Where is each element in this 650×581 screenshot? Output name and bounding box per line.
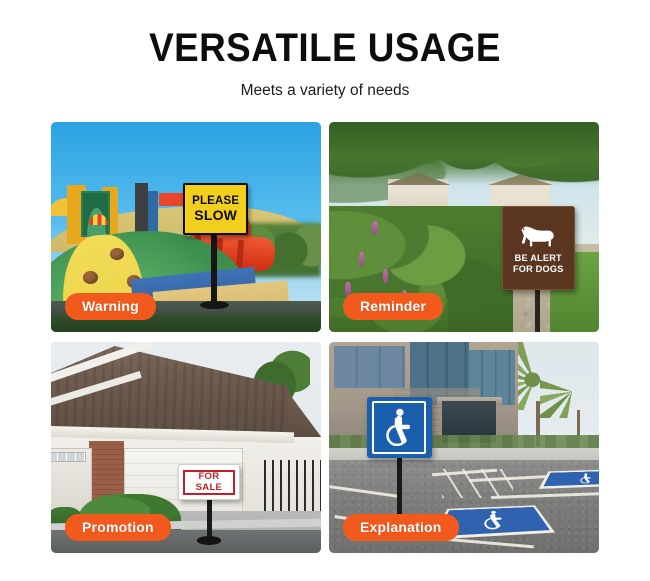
handicap-accessible-sign	[367, 397, 432, 458]
sign-inner-border	[372, 401, 426, 454]
badge-reminder[interactable]: Reminder	[343, 293, 443, 320]
usage-panel-grid: PLEASE SLOW Warning	[51, 122, 599, 553]
sign-line-1: PLEASE	[192, 195, 239, 208]
page-root: VERSATILE USAGE Meets a variety of needs	[0, 0, 650, 581]
sign-line-2: FOR DOGS	[513, 264, 564, 275]
window-bank	[334, 346, 404, 388]
umbrella	[89, 214, 108, 225]
sign-line-2: SLOW	[194, 208, 237, 224]
sign-line-2: SALE	[196, 482, 223, 493]
foxglove-flower	[359, 252, 364, 267]
foxglove-flower	[372, 221, 377, 236]
sign-inner-border: FOR SALE	[183, 470, 235, 495]
badge-explanation[interactable]: Explanation	[343, 514, 459, 541]
for-sale-sign: FOR SALE	[178, 464, 240, 500]
sign-base	[200, 301, 230, 309]
panel-reminder[interactable]: BE ALERT FOR DOGS Reminder	[329, 122, 599, 332]
accessible-stall-marking	[538, 470, 599, 490]
palm-tree	[540, 355, 599, 418]
header: VERSATILE USAGE Meets a variety of needs	[0, 0, 650, 100]
panel-promotion[interactable]: FOR SALE Promotion	[51, 342, 321, 553]
badge-promotion[interactable]: Promotion	[65, 514, 171, 541]
sign-post	[207, 498, 213, 540]
tree-canopy	[329, 122, 599, 185]
sign-line-1: BE ALERT	[515, 253, 562, 264]
wheelchair-icon	[567, 473, 599, 484]
sign-post	[535, 286, 540, 332]
page-title: VERSATILE USAGE	[26, 28, 624, 69]
page-subtitle: Meets a variety of needs	[0, 82, 650, 100]
please-slow-sign: PLEASE SLOW	[183, 183, 248, 236]
be-alert-for-dogs-sign: BE ALERT FOR DOGS	[502, 206, 575, 290]
wheelchair-icon	[470, 510, 519, 531]
panel-warning[interactable]: PLEASE SLOW Warning	[51, 122, 321, 332]
sign-post	[211, 233, 217, 304]
sign-base	[197, 536, 221, 544]
climbing-rock	[110, 248, 124, 260]
panel-explanation[interactable]: Explanation	[329, 342, 599, 553]
climbing-rock	[83, 271, 98, 284]
wheelchair-icon	[383, 408, 415, 446]
garage-window	[51, 452, 86, 463]
dog-icon	[518, 223, 558, 250]
sign-line-1: FOR	[198, 471, 219, 482]
badge-warning[interactable]: Warning	[65, 293, 156, 320]
